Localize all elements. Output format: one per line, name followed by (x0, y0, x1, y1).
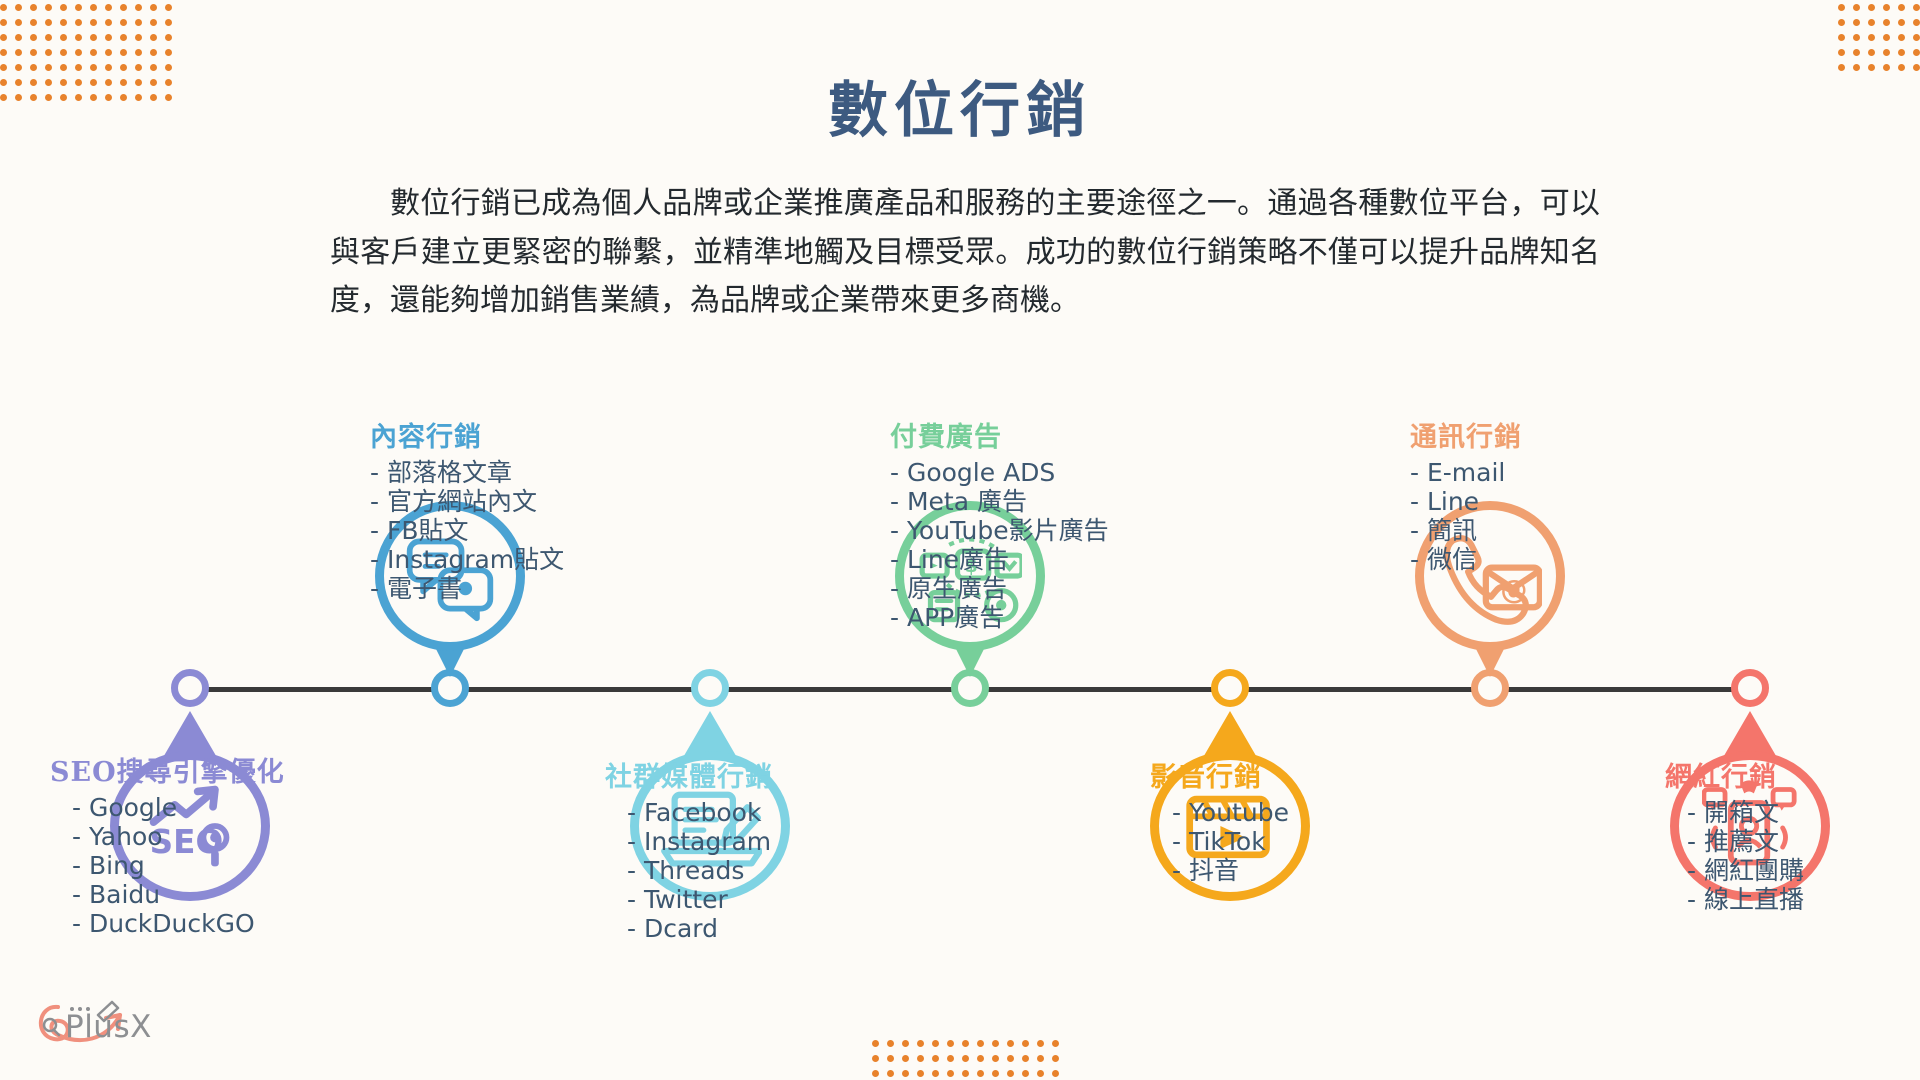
list-item: - YouTube影片廣告 (890, 516, 1190, 545)
list-item: - 開箱文 (1687, 798, 1920, 827)
category-block-seo: SEO搜尋引擎優化- Google- Yahoo- Bing- Baidu- D… (50, 750, 350, 938)
list-item: - Instagram貼文 (370, 545, 670, 574)
page-title: 數位行銷 (0, 62, 1920, 149)
category-block-social: 社群媒體行銷- Facebook- Instagram- Threads- Tw… (605, 755, 905, 943)
timeline-node-video[interactable] (1211, 669, 1249, 707)
list-item: - Meta 廣告 (890, 487, 1190, 516)
category-heading-video: 影音行銷 (1150, 755, 1450, 794)
list-item: - Dcard (627, 914, 905, 943)
list-item: - Google (72, 793, 350, 822)
category-heading-paid-ads: 付費廣告 (890, 415, 1190, 454)
list-item: - Threads (627, 856, 905, 885)
list-item: - Instagram (627, 827, 905, 856)
list-item: - E-mail (1410, 458, 1710, 487)
list-item: - 線上直播 (1687, 885, 1920, 914)
list-item: - 電子書 (370, 574, 670, 603)
brand-logo: PlusX (20, 985, 170, 1065)
svg-text:@: @ (1500, 575, 1527, 606)
list-item: - TikTok (1172, 827, 1450, 856)
list-item: - Line廣告 (890, 545, 1190, 574)
list-item: - APP廣告 (890, 603, 1190, 632)
list-item: - Baidu (72, 880, 350, 909)
infographic-canvas: 數位行銷 數位行銷已成為個人品牌或企業推廣產品和服務的主要途徑之一。通過各種數位… (0, 0, 1920, 1080)
list-item: - 官方網站內文 (370, 487, 670, 516)
category-list-social: - Facebook- Instagram- Threads- Twitter-… (605, 798, 905, 943)
category-block-influencer: 網紅行銷- 開箱文- 推薦文- 網紅團購- 線上直播 (1665, 755, 1920, 914)
category-list-content: - 部落格文章- 官方網站內文- FB貼文- Instagram貼文- 電子書 (370, 458, 670, 603)
category-heading-seo: SEO搜尋引擎優化 (50, 750, 350, 789)
category-heading-content: 內容行銷 (370, 415, 670, 454)
list-item: - 網紅團購 (1687, 856, 1920, 885)
list-item: - Youtube (1172, 798, 1450, 827)
category-heading-messaging: 通訊行銷 (1410, 415, 1710, 454)
category-block-video: 影音行銷- Youtube- TikTok- 抖音 (1150, 755, 1450, 885)
list-item: - 原生廣告 (890, 574, 1190, 603)
list-item: - 微信 (1410, 545, 1710, 574)
list-item: - Line (1410, 487, 1710, 516)
list-item: - 推薦文 (1687, 827, 1920, 856)
category-heading-social: 社群媒體行銷 (605, 755, 905, 794)
list-item: - Facebook (627, 798, 905, 827)
category-list-influencer: - 開箱文- 推薦文- 網紅團購- 線上直播 (1665, 798, 1920, 914)
list-item: - Yahoo (72, 822, 350, 851)
list-item: - 部落格文章 (370, 458, 670, 487)
list-item: - 簡訊 (1410, 516, 1710, 545)
list-item: - 抖音 (1172, 856, 1450, 885)
logo-text: PlusX (65, 1009, 152, 1045)
category-block-paid-ads: 付費廣告- Google ADS- Meta 廣告- YouTube影片廣告- … (890, 415, 1190, 632)
timeline-node-social[interactable] (691, 669, 729, 707)
timeline-node-influencer[interactable] (1731, 669, 1769, 707)
list-item: - Twitter (627, 885, 905, 914)
list-item: - FB貼文 (370, 516, 670, 545)
category-heading-influencer: 網紅行銷 (1665, 755, 1920, 794)
category-block-content: 內容行銷- 部落格文章- 官方網站內文- FB貼文- Instagram貼文- … (370, 415, 670, 603)
category-list-video: - Youtube- TikTok- 抖音 (1150, 798, 1450, 885)
intro-paragraph: 數位行銷已成為個人品牌或企業推廣產品和服務的主要途徑之一。通過各種數位平台，可以… (330, 180, 1600, 326)
timeline-node-seo[interactable] (171, 669, 209, 707)
category-list-paid-ads: - Google ADS- Meta 廣告- YouTube影片廣告- Line… (890, 458, 1190, 632)
category-list-messaging: - E-mail- Line- 簡訊- 微信 (1410, 458, 1710, 574)
category-block-messaging: 通訊行銷- E-mail- Line- 簡訊- 微信 (1410, 415, 1710, 574)
list-item: - Google ADS (890, 458, 1190, 487)
list-item: - DuckDuckGO (72, 909, 350, 938)
list-item: - Bing (72, 851, 350, 880)
category-list-seo: - Google- Yahoo- Bing- Baidu- DuckDuckGO (50, 793, 350, 938)
